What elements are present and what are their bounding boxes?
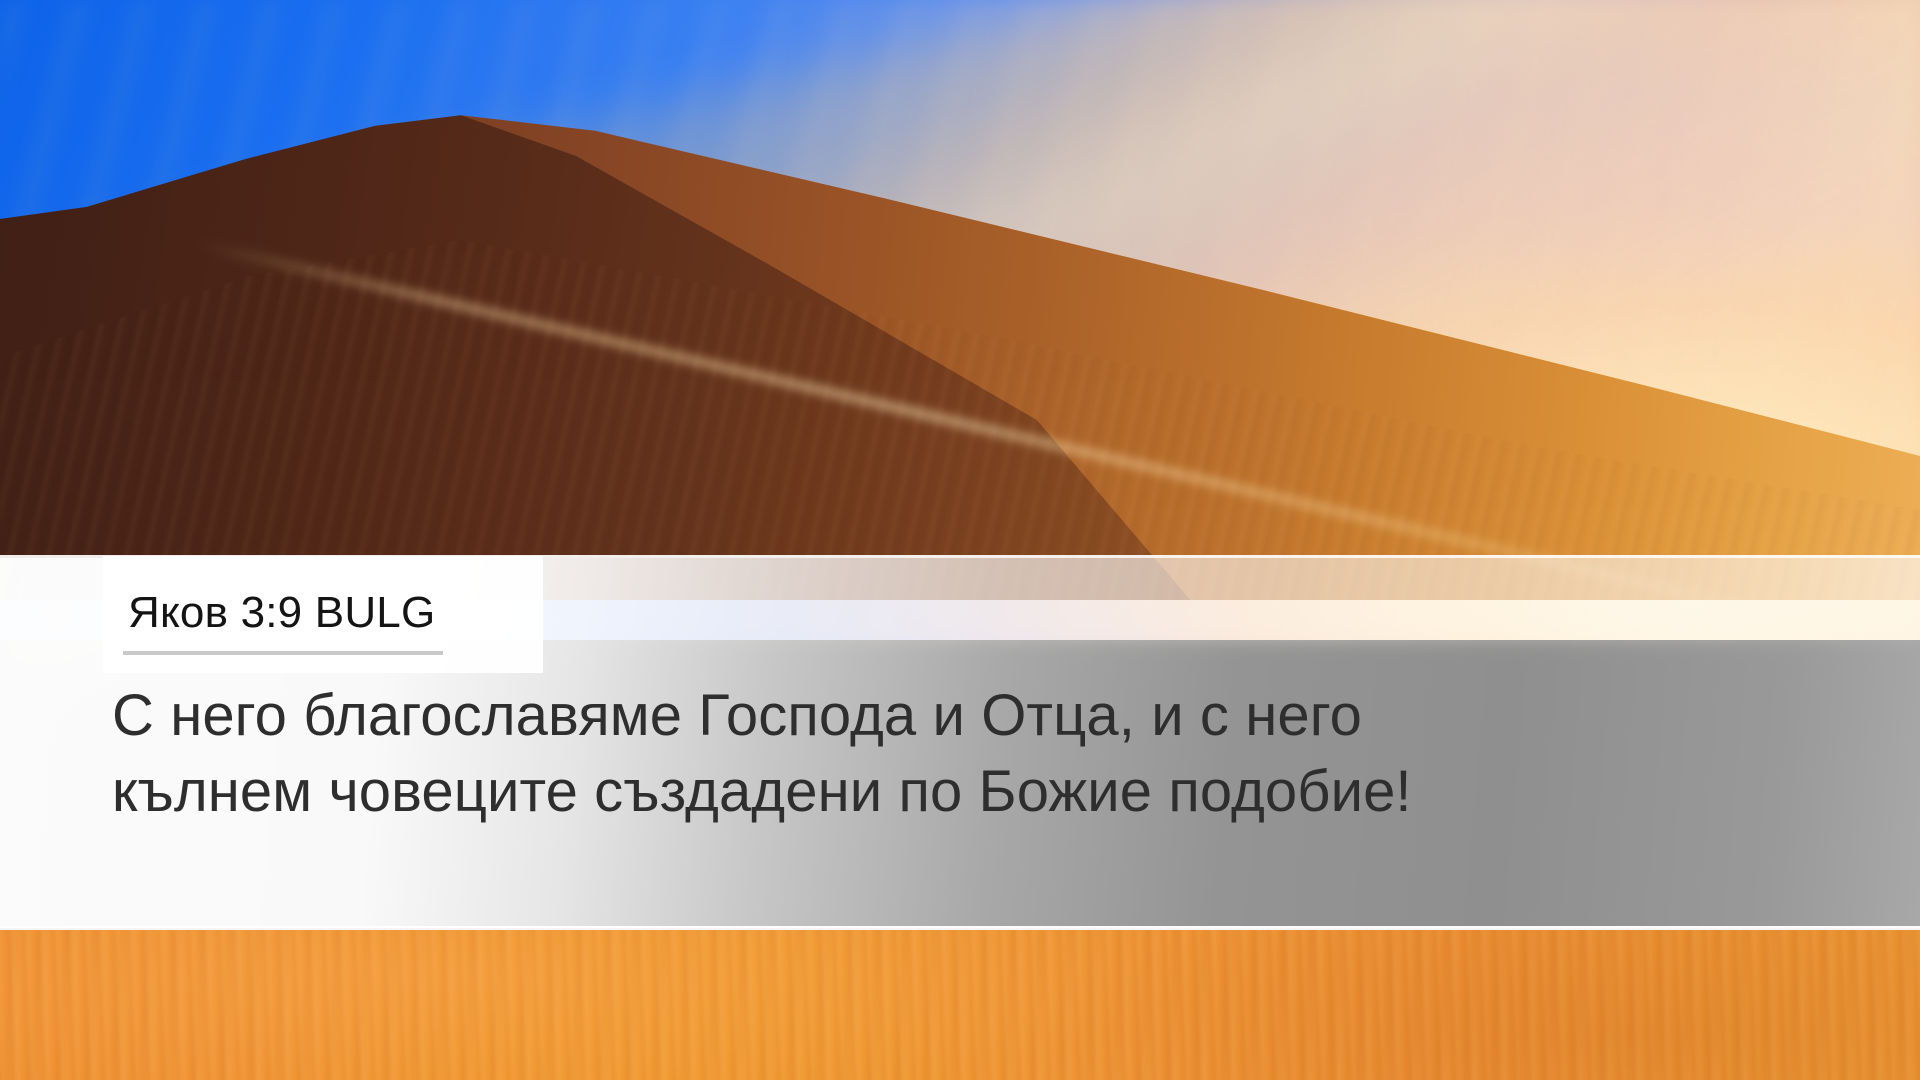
verse-reference-label: Яков 3:9 BULG: [128, 585, 435, 641]
verse-line-1: С него благославяме Господа и Отца, и с …: [112, 678, 1792, 754]
reference-underline: [123, 651, 443, 655]
verse-slide: Яков 3:9 BULG С него благославяме Господ…: [0, 0, 1920, 1080]
sand-shading: [0, 930, 1920, 1080]
sand-foreground-strip: [0, 930, 1920, 1080]
verse-line-2: кълнем човеците създадени по Божие подоб…: [112, 754, 1792, 830]
verse-text-block: С него благославяме Господа и Отца, и с …: [112, 678, 1792, 830]
